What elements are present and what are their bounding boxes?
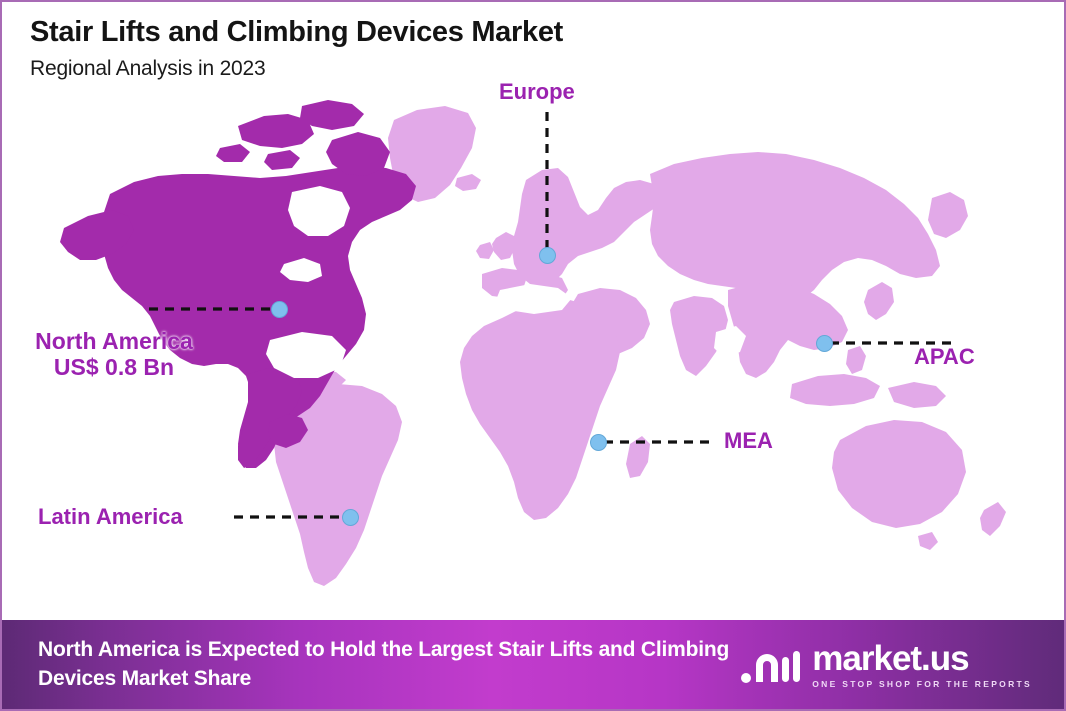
infographic-root: Stair Lifts and Climbing Devices Market … — [0, 0, 1066, 711]
region-label-mea: MEA — [724, 429, 773, 454]
banner-headline: North America is Expected to Hold the La… — [38, 636, 738, 693]
region-label-apac-text: APAC — [914, 344, 975, 369]
region-label-apac: APAC — [914, 345, 975, 370]
region-label-north-america: North America US$ 0.8 Bn — [16, 329, 212, 381]
page-title: Stair Lifts and Climbing Devices Market — [30, 16, 563, 49]
marker-dot-mea[interactable] — [590, 434, 607, 451]
page-subtitle: Regional Analysis in 2023 — [30, 57, 563, 81]
marker-dot-europe[interactable] — [539, 247, 556, 264]
region-label-north-america-text: North America — [16, 329, 212, 355]
footer-banner: North America is Expected to Hold the La… — [2, 620, 1066, 709]
region-label-latin-america: Latin America — [38, 505, 183, 530]
region-label-europe: Europe — [499, 80, 575, 105]
market-us-logo[interactable]: market.us ONE STOP SHOP FOR THE REPORTS — [740, 641, 1042, 689]
header: Stair Lifts and Climbing Devices Market … — [30, 16, 563, 81]
logo-text-block: market.us ONE STOP SHOP FOR THE REPORTS — [812, 641, 1032, 689]
logo-wordmark: market.us — [812, 641, 968, 676]
market-us-logo-mark-icon — [740, 645, 802, 685]
logo-tagline: ONE STOP SHOP FOR THE REPORTS — [812, 679, 1032, 689]
map-annotation-overlay: Europe North America US$ 0.8 Bn APAC MEA… — [2, 2, 1066, 627]
region-label-europe-text: Europe — [499, 79, 575, 104]
marker-dot-north-america[interactable] — [271, 301, 288, 318]
marker-dot-apac[interactable] — [816, 335, 833, 352]
region-label-mea-text: MEA — [724, 428, 773, 453]
region-value-north-america: US$ 0.8 Bn — [16, 355, 212, 381]
region-label-latin-america-text: Latin America — [38, 504, 183, 529]
marker-dot-latin-america[interactable] — [342, 509, 359, 526]
